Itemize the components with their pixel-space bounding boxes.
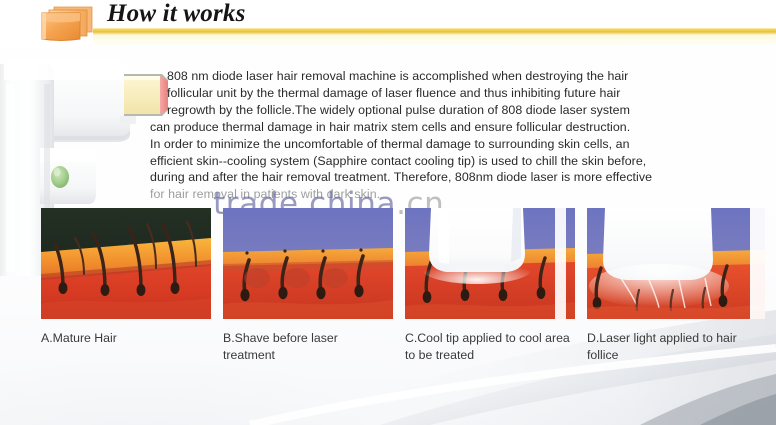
how-it-works-page: How it works [0,0,776,425]
page-title: How it works [107,0,246,28]
caption-panel-a: A.Mature Hair [41,330,211,347]
intro-line: 808 nm diode laser hair removal machine … [167,68,771,85]
intro-line: during and after the hair removal treatm… [150,169,771,186]
intro-paragraph: 808 nm diode laser hair removal machine … [167,68,771,203]
panel-captions: A.Mature Hair B.Shave before laser treat… [41,330,771,372]
caption-panel-d: D.Laser light applied to hair follice [587,330,767,363]
intro-line: follicular unit by the thermal damage of… [167,85,771,102]
panel-shave [223,208,393,319]
illustration-panel-strip [41,208,764,319]
intro-line: for hair removal in patients with dark s… [150,186,771,203]
intro-line: In order to minimize the uncomfortable o… [150,136,771,153]
title-underline-rule [93,28,776,35]
panel-laser-light [587,208,765,319]
panel-cool-tip [405,208,575,319]
intro-line: can produce thermal damage in hair matri… [150,119,771,136]
caption-panel-c: C.Cool tip applied to cool area to be tr… [405,330,580,363]
caption-panel-b: B.Shave before laser treatment [223,330,393,363]
panel-mature-hair [41,208,211,319]
intro-line: efficient skin--cooling system (Sapphire… [150,153,771,170]
page-header: How it works [0,0,776,46]
title-underline-glow [93,35,776,47]
intro-line: regrowth by the follicle.The widely opti… [167,102,771,119]
